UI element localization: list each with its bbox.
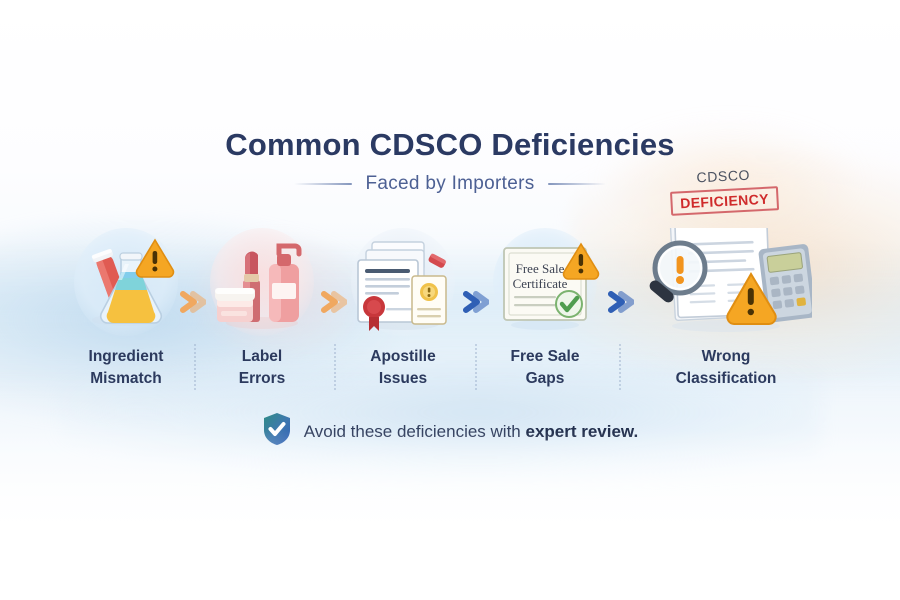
- infographic-canvas: Common CDSCO Deficiencies Faced by Impor…: [0, 0, 900, 600]
- caption-line-1: Label: [187, 346, 337, 368]
- caption-separator-1: [194, 344, 196, 390]
- step-free-sale-gaps[interactable]: Free Sale Certificate Free Sale: [470, 228, 620, 390]
- caption-line-2: Gaps: [470, 368, 620, 390]
- caption-line-2: Classification: [640, 368, 812, 390]
- deficiency-document-text: CDSCO DEFICIENCY: [659, 165, 789, 217]
- step-caption: Free Sale Gaps: [470, 346, 620, 390]
- caption-separator-3: [475, 344, 477, 390]
- subtitle-rule-left: [294, 183, 352, 185]
- arrow-1-icon: [180, 290, 206, 314]
- step-caption: Label Errors: [187, 346, 337, 390]
- step-caption: Ingredient Mismatch: [51, 346, 201, 390]
- step-caption: Wrong Classification: [640, 346, 812, 390]
- caption-line-1: Free Sale: [470, 346, 620, 368]
- caption-line-2: Errors: [187, 368, 337, 390]
- step-caption: Apostille Issues: [328, 346, 478, 390]
- magnifier-document-calculator-icon: [640, 228, 812, 336]
- step-apostille-issues[interactable]: Apostille Issues: [328, 228, 478, 390]
- caption-line-2: Issues: [328, 368, 478, 390]
- step-wrong-classification[interactable]: Wrong Classification: [640, 228, 812, 390]
- caption-separator-4: [619, 344, 621, 390]
- arrow-2-icon: [321, 290, 347, 314]
- arrow-4-icon: [608, 290, 634, 314]
- flask-test-tube-warning-icon: [51, 228, 201, 336]
- step-ingredient-mismatch[interactable]: Ingredient Mismatch: [51, 228, 201, 390]
- background-bottom-fade: [0, 430, 900, 600]
- caption-separator-2: [334, 344, 336, 390]
- caption-line-1: Apostille: [328, 346, 478, 368]
- certificate-line-1: Free Sale: [516, 261, 565, 276]
- subtitle-rule-right: [548, 183, 606, 185]
- documents-seal-icon: [328, 228, 478, 336]
- arrow-3-icon: [463, 290, 489, 314]
- free-sale-certificate-icon: Free Sale Certificate: [470, 228, 620, 336]
- page-title: Common CDSCO Deficiencies: [0, 128, 900, 162]
- deficiency-steps: Ingredient Mismatch: [0, 228, 900, 398]
- step-label-errors[interactable]: Label Errors: [187, 228, 337, 390]
- caption-line-2: Mismatch: [51, 368, 201, 390]
- caption-line-1: Ingredient: [51, 346, 201, 368]
- certificate-line-2: Certificate: [513, 276, 568, 291]
- caption-line-1: Wrong: [640, 346, 812, 368]
- page-subtitle: Faced by Importers: [365, 173, 534, 195]
- cosmetics-bottles-icon: [187, 228, 337, 336]
